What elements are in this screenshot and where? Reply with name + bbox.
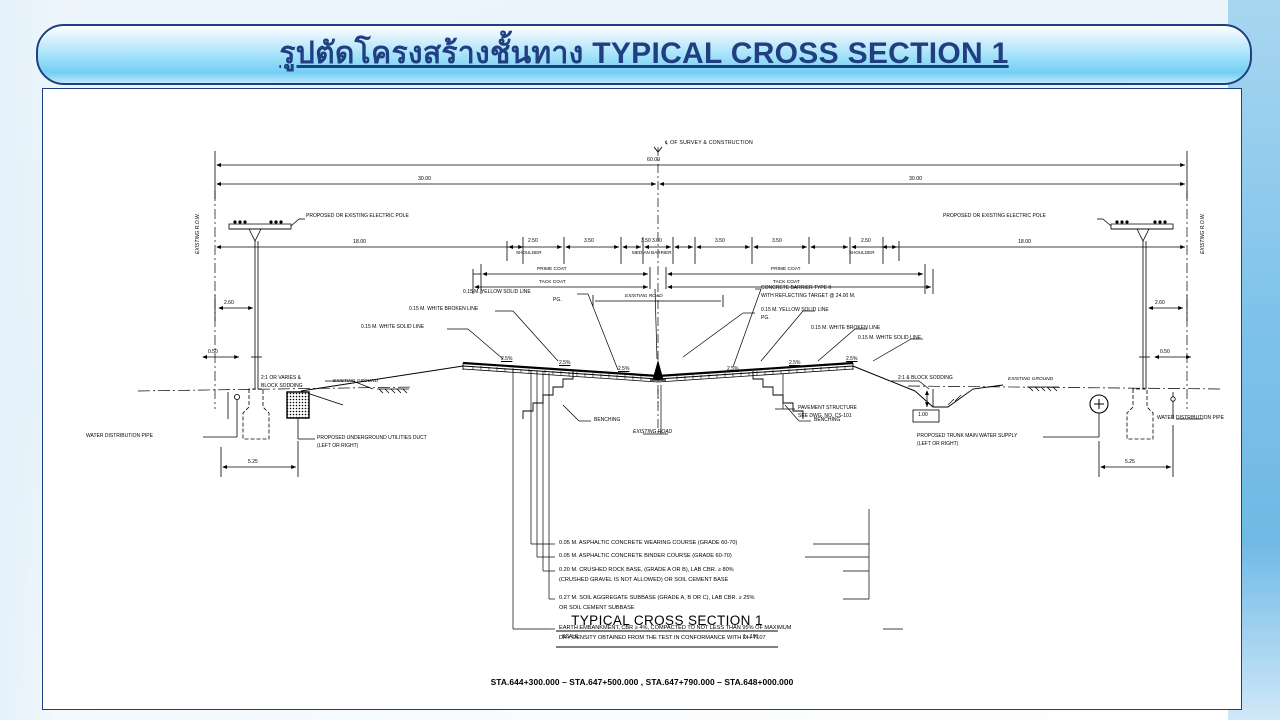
benching-left-label: BENCHING [594,417,620,423]
centerline-label: ℄ OF SURVEY & CONSTRUCTION [665,140,753,146]
row-label-left: EXISTING R.O.W. [195,213,201,254]
pavement-layer-4: 0.27 M. SOIL AGGREGATE SUBBASE (GRADE A,… [559,595,755,601]
drawing-frame: ℄ OF SURVEY & CONSTRUCTION 60.00 30.00 3… [42,88,1242,710]
water-pipe-left-label: WATER DISTRIBUTION PIPE [86,433,153,439]
slide-background: รูปตัดโครงสร้างชั้นทาง TYPICAL CROSS SEC… [0,0,1280,720]
benching-right-label: BENCHING [814,417,840,423]
pole-height-left-label: 2.60 [224,300,234,306]
scale-value: 1 : 100 [743,634,758,640]
pole-base-left-label: 0.50 [208,349,218,355]
yellow-solid-right-label: 0.15 M. YELLOW SOLID LINE [761,307,829,313]
side-slope-left-label2: BLOCK SODDING [261,383,303,389]
dimension-offset-right-label: 18.00 [1018,239,1031,245]
existing-ground-right-label: EXISTING GROUND [1008,377,1053,382]
lane-dim-5: 3.50 [772,238,782,244]
pavement-layer-7: DRY DENSITY OBTAINED FROM THE TEST IN CO… [559,635,766,641]
utilities-duct-label: PROPOSED UNDERGROUND UTILITIES DUCT [317,435,427,441]
yellow-solid-right-label2: PG. [761,315,770,321]
duct-offset-left-label: 5.25 [248,459,258,465]
pavement-layer-3: (CRUSHED GRAVEL IS NOT ALLOWED) OR SOIL … [559,577,728,583]
trunk-main-label2: (LEFT OR RIGHT) [917,441,958,447]
utilities-duct-label2: (LEFT OR RIGHT) [317,443,358,449]
barrier-label2: WITH REFLECTING TARGET @ 24.00 M. [761,293,855,299]
page-title: รูปตัดโครงสร้างชั้นทาง TYPICAL CROSS SEC… [279,30,1008,77]
cross-slope-0: 2.5% [501,356,512,362]
trunk-main-label: PROPOSED TRUNK MAIN WATER SUPPLY [917,433,1017,439]
ditch-depth-label: 1.00 [918,412,928,418]
duct-offset-right-label: 5.25 [1125,459,1135,465]
water-pipe-right-label: WATER DISTRIBUTION PIPE [1157,415,1224,421]
cross-slope-2: 2.5% [618,366,629,372]
lane-dim-3: 3.00 [652,238,662,244]
white-solid-right-label: 0.15 M. WHITE SOLID LINE [858,335,921,341]
lane-label-3: MEDIAN BARRIER [632,250,672,255]
barrier-label: CONCRETE BARRIER TYPE II [761,285,831,291]
lane-label-6: SHOULDER [849,250,875,255]
dimension-half-left-label: 30.00 [418,176,431,182]
tack-coat-left-label: TACK COAT [539,280,566,285]
white-broken-left-label: 0.15 M. WHITE BROKEN LINE [409,306,478,312]
row-label-right: EXISTING R.O.W. [1200,213,1206,254]
dimension-offset-left-label: 18.00 [353,239,366,245]
scale-label: SCALE [562,634,578,640]
existing-road-top-label: EXISTING ROAD [625,294,663,299]
side-slope-left-label: 2:1 OR VARIES & [261,375,301,381]
cross-slope-3: 2.5% [727,366,738,372]
pavement-layer-5: OR SOIL CEMENT SUBBASE [559,605,635,611]
existing-ground-left-label: EXISTING GROUND [333,379,378,384]
existing-road-note-label: EXISTING ROAD [633,429,672,435]
pavement-structure-label: PAVEMENT STRUCTURE [798,405,857,411]
stations-label: STA.644+300.000 – STA.647+500.000 , STA.… [43,677,1241,687]
white-broken-right-label: 0.15 M. WHITE BROKEN LINE [811,325,880,331]
lane-dim-6: 2.50 [861,238,871,244]
white-solid-left-label: 0.15 M. WHITE SOLID LINE [361,324,424,330]
sheet-title: TYPICAL CROSS SECTION 1 [556,613,778,628]
dimension-half-right-label: 30.00 [909,176,922,182]
yellow-solid-left-label2: PG. [553,297,562,303]
pavement-layer-0: 0.05 M. ASPHALTIC CONCRETE WEARING COURS… [559,540,737,546]
lane-dim-0: 2.50 [528,238,538,244]
pole-base-right-label: 0.50 [1160,349,1170,355]
yellow-solid-left-label: 0.15 M. YELLOW SOLID LINE [463,289,531,295]
pole-height-right-label: 2.60 [1155,300,1165,306]
title-banner: รูปตัดโครงสร้างชั้นทาง TYPICAL CROSS SEC… [36,24,1252,85]
cross-slope-4: 2.5% [789,360,800,366]
lane-label-0: SHOULDER [516,250,542,255]
lane-dim-2: 3.50 [641,238,651,244]
cross-slope-1: 2.5% [559,360,570,366]
lane-dim-4: 3.50 [715,238,725,244]
electric-pole-right-label: PROPOSED OR EXISTING ELECTRIC POLE [943,213,1046,219]
side-slope-right-label: 2:1 & BLOCK SODDING [898,375,953,381]
lane-dim-1: 3.50 [584,238,594,244]
pavement-layer-1: 0.05 M. ASPHALTIC CONCRETE BINDER COURSE… [559,553,732,559]
electric-pole-left-label: PROPOSED OR EXISTING ELECTRIC POLE [306,213,409,219]
dimension-total-label: 60.00 [647,157,660,163]
pavement-layer-2: 0.20 M. CRUSHED ROCK BASE, (GRADE A OR B… [559,567,734,573]
prime-coat-left-label: PRIME COAT [537,267,567,272]
cross-slope-5: 2.5% [846,356,857,362]
prime-coat-right-label: PRIME COAT [771,267,801,272]
cad-drawing: ℄ OF SURVEY & CONSTRUCTION 60.00 30.00 3… [43,89,1241,709]
